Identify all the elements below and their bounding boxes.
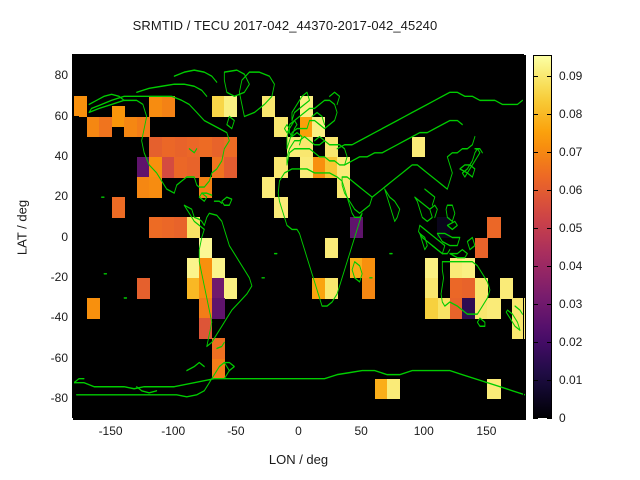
- heatmap-cell: [475, 278, 488, 299]
- heatmap-cells-layer: [74, 56, 525, 419]
- heatmap-cell: [337, 157, 350, 178]
- y-tick-mark: [73, 358, 79, 359]
- colorbar-tick-mark: [547, 152, 552, 153]
- y-tick-mark: [73, 237, 79, 238]
- heatmap-cell: [487, 379, 500, 400]
- heatmap-cell: [375, 379, 388, 400]
- heatmap-cell: [199, 137, 212, 158]
- y-tick-label: -80: [28, 391, 68, 405]
- heatmap-cell: [99, 117, 112, 138]
- heatmap-cell: [149, 217, 162, 238]
- heatmap-cell: [312, 278, 325, 299]
- heatmap-cell: [462, 278, 475, 299]
- heatmap-cell: [300, 96, 313, 117]
- heatmap-cell: [437, 217, 450, 238]
- heatmap-cell: [174, 217, 187, 238]
- heatmap-cell: [362, 258, 375, 279]
- heatmap-cell: [325, 278, 338, 299]
- y-tick-mark: [73, 398, 79, 399]
- heatmap-cell: [475, 238, 488, 259]
- heatmap-cell: [174, 157, 187, 178]
- y-tick-mark: [73, 156, 79, 157]
- heatmap-cell: [162, 157, 175, 178]
- heatmap-cell: [162, 217, 175, 238]
- colorbar-tick-mark: [533, 342, 538, 343]
- figure-canvas: SRMTID / TECU 2017-042_44370-2017-042_45…: [0, 0, 640, 480]
- colorbar-tick-label: 0: [559, 411, 566, 425]
- colorbar-tick-label: 0.01: [559, 373, 582, 387]
- colorbar-tick-mark: [547, 304, 552, 305]
- y-tick-label: 40: [28, 149, 68, 163]
- colorbar-tick-label: 0.04: [559, 259, 582, 273]
- heatmap-cell: [174, 137, 187, 158]
- colorbar-tick-mark: [547, 266, 552, 267]
- heatmap-cell: [300, 157, 313, 178]
- heatmap-cell: [187, 278, 200, 299]
- colorbar[interactable]: [533, 55, 552, 418]
- x-tick-mark: [424, 412, 425, 418]
- heatmap-cell: [212, 258, 225, 279]
- colorbar-gradient: [533, 55, 552, 418]
- heatmap-cell: [262, 177, 275, 198]
- heatmap-cell: [475, 298, 488, 319]
- heatmap-cell: [512, 318, 525, 339]
- x-tick-label: -50: [206, 424, 266, 438]
- colorbar-tick-mark: [547, 76, 552, 77]
- heatmap-cell: [425, 298, 438, 319]
- heatmap-cell: [274, 117, 287, 138]
- heatmap-cell: [137, 278, 150, 299]
- heatmap-cell: [462, 258, 475, 279]
- y-tick-mark: [73, 116, 79, 117]
- colorbar-tick-mark: [547, 114, 552, 115]
- heatmap-cell: [350, 217, 363, 238]
- heatmap-cell: [87, 298, 100, 319]
- colorbar-tick-label: 0.05: [559, 221, 582, 235]
- heatmap-cell: [112, 106, 125, 127]
- y-tick-label: 80: [28, 68, 68, 82]
- heatmap-cell: [212, 157, 225, 178]
- x-tick-mark: [173, 412, 174, 418]
- y-tick-mark: [73, 75, 79, 76]
- heatmap-cell: [199, 258, 212, 279]
- heatmap-cell: [224, 137, 237, 158]
- heatmap-cell: [350, 258, 363, 279]
- heatmap-cell: [300, 137, 313, 158]
- heatmap-cell: [325, 238, 338, 259]
- heatmap-cell: [450, 278, 463, 299]
- heatmap-cell: [462, 298, 475, 319]
- x-tick-mark: [299, 412, 300, 418]
- heatmap-cell: [199, 278, 212, 299]
- colorbar-tick-mark: [533, 114, 538, 115]
- heatmap-cell: [450, 298, 463, 319]
- heatmap-cell: [212, 359, 225, 380]
- heatmap-cell: [149, 137, 162, 158]
- heatmap-cell: [512, 298, 525, 319]
- heatmap-cell: [325, 137, 338, 158]
- colorbar-tick-mark: [547, 228, 552, 229]
- heatmap-cell: [162, 137, 175, 158]
- heatmap-cell: [262, 96, 275, 117]
- colorbar-tick-label: 0.03: [559, 297, 582, 311]
- x-tick-label: -100: [143, 424, 203, 438]
- heatmap-cell: [199, 177, 212, 198]
- y-tick-label: 0: [28, 230, 68, 244]
- y-tick-mark: [73, 196, 79, 197]
- heatmap-cell: [212, 96, 225, 117]
- x-tick-label: 100: [394, 424, 454, 438]
- page-title: SRMTID / TECU 2017-042_44370-2017-042_45…: [0, 18, 570, 33]
- x-tick-mark: [361, 412, 362, 418]
- heatmap-cell: [274, 157, 287, 178]
- heatmap-cell: [187, 137, 200, 158]
- heatmap-cell: [425, 258, 438, 279]
- colorbar-tick-label: 0.07: [559, 145, 582, 159]
- heatmap-cell: [149, 157, 162, 178]
- heatmap-cell: [162, 96, 175, 117]
- colorbar-tick-label: 0.09: [559, 69, 582, 83]
- x-tick-label: -150: [81, 424, 141, 438]
- heatmap-cell: [137, 117, 150, 138]
- heatmap-cell: [74, 96, 87, 117]
- heatmap-cell: [487, 298, 500, 319]
- heatmap-cell: [187, 258, 200, 279]
- x-axis-title: LON / deg: [73, 452, 524, 467]
- y-tick-label: -20: [28, 270, 68, 284]
- heatmap-cell: [274, 197, 287, 218]
- heatmap-cell: [212, 278, 225, 299]
- heatmap-cell: [212, 137, 225, 158]
- y-tick-mark: [73, 277, 79, 278]
- heatmap-cell: [187, 157, 200, 178]
- heatmap-cell: [187, 217, 200, 238]
- heatmap-cell: [149, 177, 162, 198]
- colorbar-tick-mark: [547, 342, 552, 343]
- heatmap-cell: [137, 177, 150, 198]
- heatmap-cell: [149, 96, 162, 117]
- colorbar-tick-mark: [547, 418, 552, 419]
- heatmap-cell: [450, 258, 463, 279]
- colorbar-tick-label: 0.02: [559, 335, 582, 349]
- heatmap-cell: [137, 157, 150, 178]
- colorbar-tick-mark: [547, 190, 552, 191]
- heatmap-cell: [224, 278, 237, 299]
- colorbar-tick-mark: [533, 380, 538, 381]
- heatmap-cell: [112, 197, 125, 218]
- colorbar-tick-mark: [547, 380, 552, 381]
- colorbar-tick-label: 0.06: [559, 183, 582, 197]
- colorbar-tick-mark: [533, 76, 538, 77]
- y-tick-label: 20: [28, 189, 68, 203]
- heatmap-cell: [487, 217, 500, 238]
- colorbar-tick-mark: [533, 152, 538, 153]
- x-tick-label: 0: [269, 424, 329, 438]
- x-tick-mark: [236, 412, 237, 418]
- heatmap-cell: [224, 157, 237, 178]
- y-tick-mark: [73, 317, 79, 318]
- heatmap-cell: [425, 278, 438, 299]
- heatmap-cell: [199, 238, 212, 259]
- y-tick-label: -60: [28, 351, 68, 365]
- heatmap-cell: [224, 96, 237, 117]
- x-tick-mark: [486, 412, 487, 418]
- heatmap-cell: [212, 298, 225, 319]
- colorbar-tick-mark: [533, 228, 538, 229]
- colorbar-tick-mark: [533, 304, 538, 305]
- heatmap-cell: [199, 298, 212, 319]
- colorbar-tick-mark: [533, 190, 538, 191]
- heatmap-cell: [287, 137, 300, 158]
- y-tick-label: 60: [28, 109, 68, 123]
- y-axis-title: LAT / deg: [15, 158, 30, 298]
- heatmap-cell: [199, 318, 212, 339]
- colorbar-tick-label: 0.08: [559, 107, 582, 121]
- colorbar-tick-mark: [533, 266, 538, 267]
- heatmap-cell: [312, 117, 325, 138]
- heatmap-cell: [500, 278, 513, 299]
- heatmap-cell: [337, 177, 350, 198]
- heatmap-cell: [87, 117, 100, 138]
- y-tick-label: -40: [28, 310, 68, 324]
- heatmap-cell: [325, 157, 338, 178]
- heatmap-cell: [124, 117, 137, 138]
- heatmap-cell: [312, 157, 325, 178]
- colorbar-tick-mark: [533, 418, 538, 419]
- heatmap-cell: [437, 298, 450, 319]
- map-plot-area[interactable]: [73, 55, 526, 420]
- heatmap-cell: [412, 137, 425, 158]
- x-tick-mark: [111, 412, 112, 418]
- heatmap-cell: [362, 278, 375, 299]
- x-tick-label: 150: [456, 424, 516, 438]
- heatmap-cell: [212, 338, 225, 359]
- heatmap-cell: [387, 379, 400, 400]
- x-tick-label: 50: [331, 424, 391, 438]
- heatmap-cell: [300, 117, 313, 138]
